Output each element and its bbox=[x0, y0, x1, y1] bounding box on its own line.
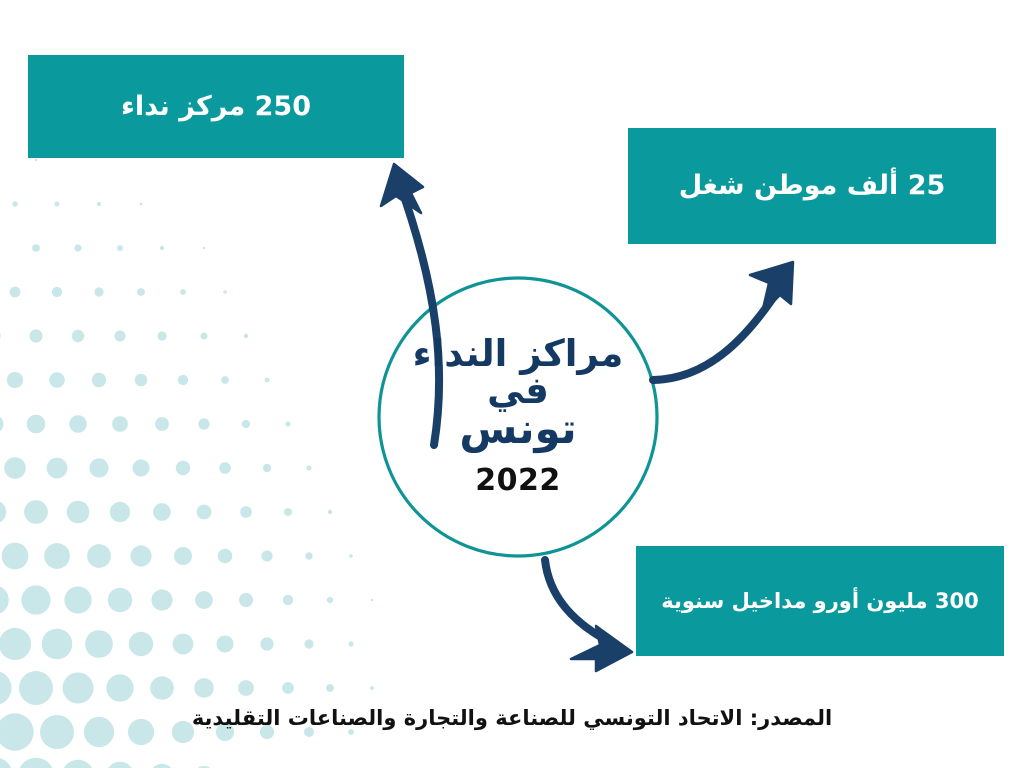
stat-box-call-centers: 250 مركز نداء bbox=[28, 55, 404, 158]
infographic-canvas: 250 مركز نداء 25 ألف موطن شغل 300 مليون … bbox=[0, 0, 1024, 768]
stat-label-revenue: 300 مليون أورو مداخيل سنوية bbox=[647, 588, 993, 614]
arrow-to-revenue-icon bbox=[545, 560, 632, 671]
stat-box-revenue: 300 مليون أورو مداخيل سنوية bbox=[636, 546, 1004, 656]
center-year: 2022 bbox=[475, 463, 561, 498]
stat-label-call-centers: 250 مركز نداء bbox=[107, 90, 325, 124]
stat-box-jobs: 25 ألف موطن شغل bbox=[628, 128, 996, 244]
center-hub: مراكز النداء في تونس 2022 bbox=[378, 277, 658, 557]
arrow-to-jobs-icon bbox=[653, 262, 793, 380]
center-title-line-1: مراكز النداء bbox=[413, 336, 624, 372]
source-caption: المصدر: الاتحاد التونسي للصناعة والتجارة… bbox=[0, 706, 1024, 730]
stat-label-jobs: 25 ألف موطن شغل bbox=[665, 169, 960, 203]
center-title-line-3: تونس bbox=[459, 409, 576, 449]
